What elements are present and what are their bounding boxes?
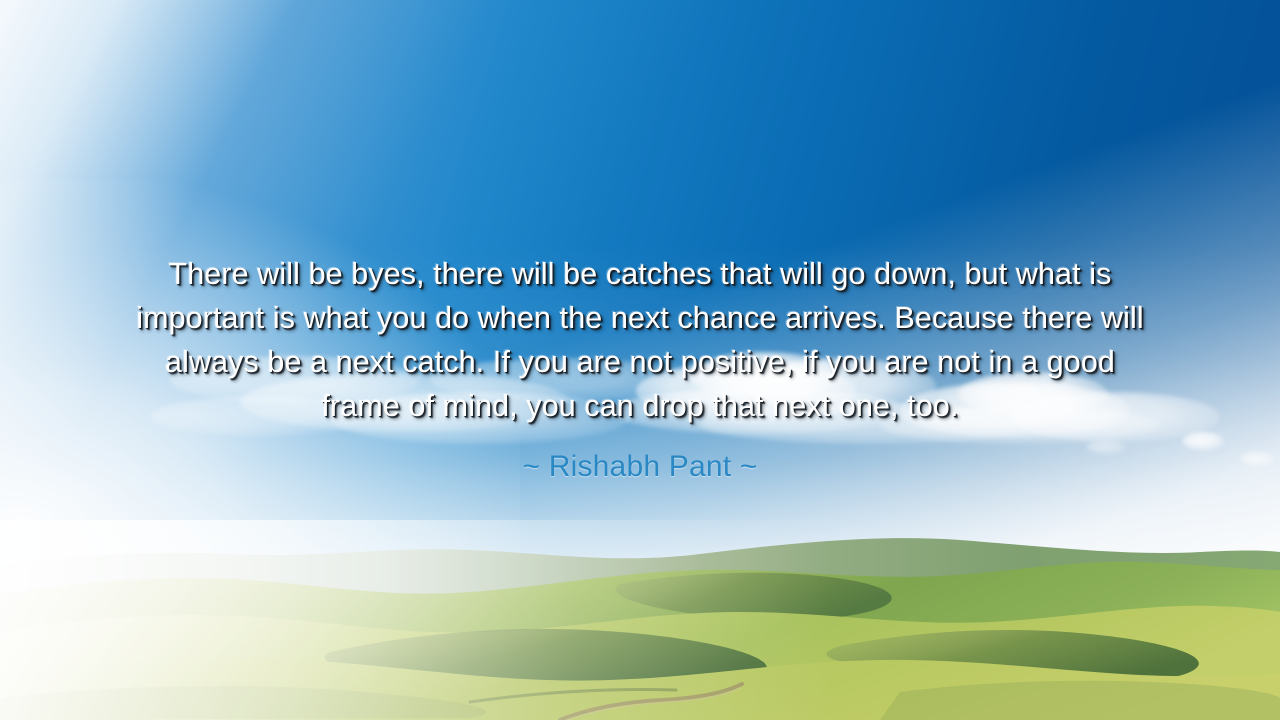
quote-text-block: There will be byes, there will be catche… bbox=[0, 252, 1280, 485]
landscape-hills bbox=[0, 520, 1280, 720]
quote-text: There will be byes, there will be catche… bbox=[130, 252, 1150, 428]
quote-author: ~ Rishabh Pant ~ bbox=[130, 449, 1150, 485]
quote-wallpaper: There will be byes, there will be catche… bbox=[0, 0, 1280, 720]
landscape-haze-overlay bbox=[0, 520, 1280, 720]
